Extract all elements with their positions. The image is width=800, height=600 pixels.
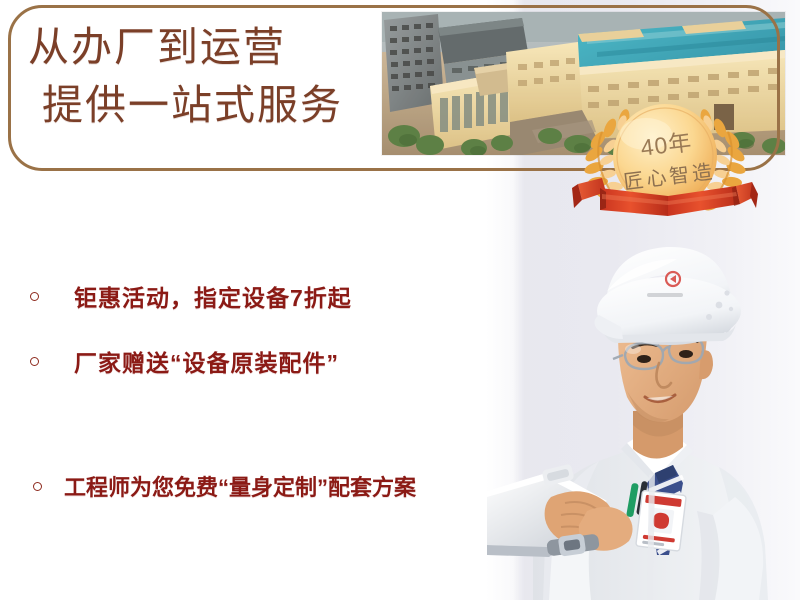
anniversary-badge: 40年 匠心智造 — [572, 88, 758, 228]
engineer-portrait — [487, 215, 800, 600]
list-item-label: 厂家赠送“设备原装配件” — [74, 344, 339, 378]
list-item: 厂家赠送“设备原装配件” — [30, 344, 339, 378]
list-item: 工程师为您免费“量身定制”配套方案 — [33, 470, 416, 502]
list-item-label: 钜惠活动，指定设备7折起 — [74, 279, 352, 313]
list-item: 钜惠活动，指定设备7折起 — [30, 279, 352, 313]
list-item-label: 工程师为您免费“量身定制”配套方案 — [64, 470, 416, 502]
bullet-circle-icon — [30, 357, 39, 366]
bullet-circle-icon — [30, 292, 39, 301]
bullet-circle-icon — [33, 482, 42, 491]
feature-list: 钜惠活动，指定设备7折起 厂家赠送“设备原装配件” 工程师为您免费“量身定制”配… — [0, 0, 520, 600]
poster-root: 从办厂到运营 提供一站式服务 — [0, 0, 800, 600]
